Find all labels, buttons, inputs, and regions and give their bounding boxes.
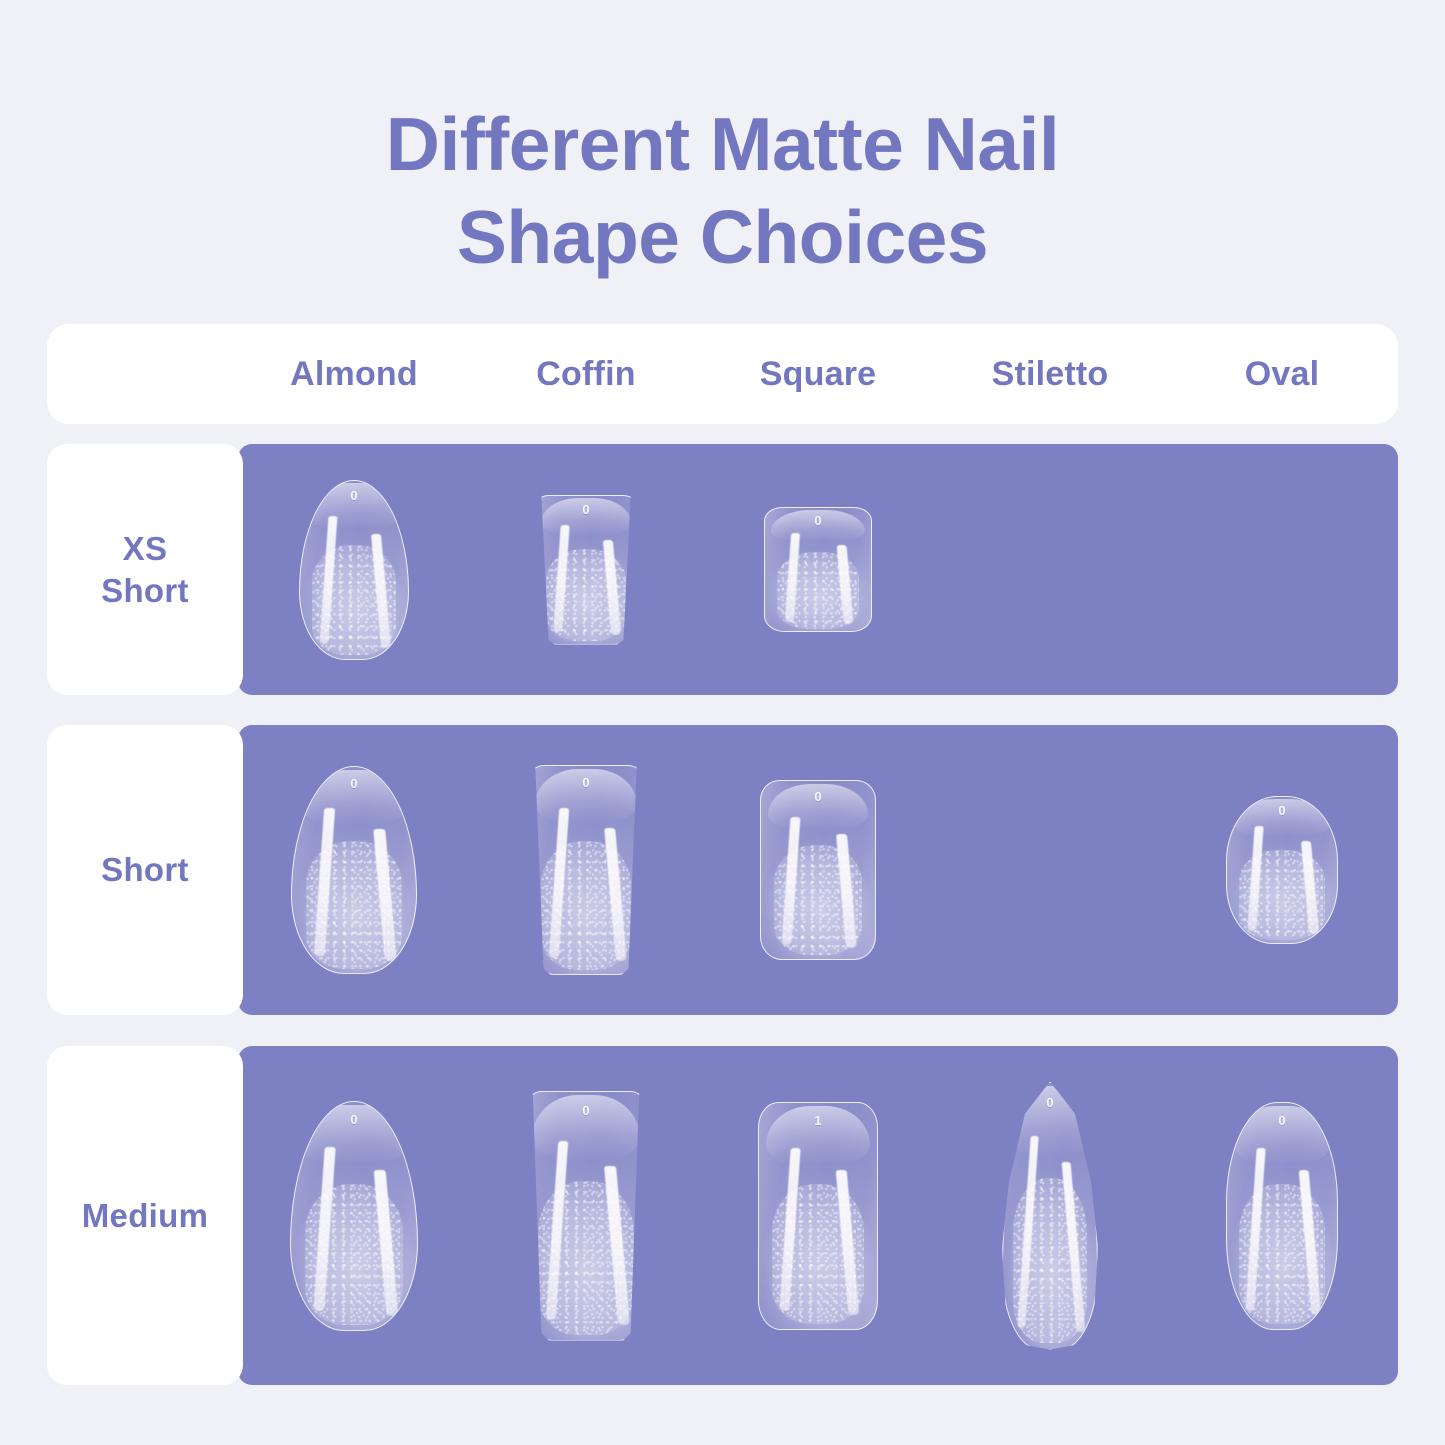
- column-header-square: Square: [702, 355, 934, 394]
- nail-size-mark: 0: [350, 777, 357, 790]
- row-label-line-2: Short: [101, 572, 189, 609]
- row-cells: 00100: [238, 1046, 1398, 1385]
- column-header-stiletto: Stiletto: [934, 355, 1166, 394]
- nail-size-mark: 0: [582, 1104, 589, 1117]
- row-label-line-1: Medium: [82, 1197, 208, 1234]
- nail-tip-square[interactable]: 1: [758, 1102, 878, 1330]
- nail-cell-square[interactable]: 0: [702, 444, 934, 695]
- size-row-medium: Medium00100: [47, 1046, 1398, 1385]
- nail-tip-almond[interactable]: 0: [299, 480, 409, 660]
- nail-cell-coffin[interactable]: 0: [470, 1046, 702, 1385]
- nail-size-mark: 1: [814, 1114, 821, 1127]
- column-header-oval: Oval: [1166, 355, 1398, 394]
- column-header-card: Almond Coffin Square Stiletto Oval: [47, 324, 1398, 424]
- nail-cell-square[interactable]: 0: [702, 725, 934, 1015]
- row-label-card: Medium: [47, 1046, 243, 1385]
- nail-cell-coffin[interactable]: 0: [470, 725, 702, 1015]
- page-title-line-1: Different Matte Nail: [0, 98, 1445, 191]
- nail-size-mark: 0: [582, 776, 589, 789]
- nail-cell-square[interactable]: 1: [702, 1046, 934, 1385]
- nail-tip-coffin[interactable]: 0: [534, 495, 638, 645]
- row-label-card: Short: [47, 725, 243, 1015]
- nail-size-mark: 0: [814, 514, 821, 527]
- size-row-short: Short0000: [47, 725, 1398, 1015]
- nail-cell-oval[interactable]: 0: [1166, 1046, 1398, 1385]
- row-label-line-1: Short: [101, 851, 189, 888]
- row-label-text: Medium: [82, 1195, 208, 1237]
- nail-size-mark: 0: [814, 790, 821, 803]
- nail-cell-oval[interactable]: 0: [1166, 725, 1398, 1015]
- nail-size-mark: 0: [1278, 804, 1285, 817]
- page-title-line-2: Shape Choices: [0, 191, 1445, 284]
- size-row-xs-short: XSShort000: [47, 444, 1398, 695]
- nail-cell-almond[interactable]: 0: [238, 444, 470, 695]
- nail-tip-square[interactable]: 0: [760, 780, 876, 960]
- row-cells: 0000: [238, 725, 1398, 1015]
- row-label-text: Short: [101, 849, 189, 891]
- row-cells: 000: [238, 444, 1398, 695]
- row-label-card: XSShort: [47, 444, 243, 695]
- page-title: Different Matte Nail Shape Choices: [0, 98, 1445, 284]
- nail-cell-almond[interactable]: 0: [238, 725, 470, 1015]
- nail-tip-coffin[interactable]: 0: [524, 1091, 648, 1341]
- nail-tip-square[interactable]: 0: [764, 507, 872, 632]
- column-header-coffin: Coffin: [470, 355, 702, 394]
- nail-size-mark: 0: [350, 1113, 357, 1126]
- nail-tip-oval[interactable]: 0: [1226, 796, 1338, 944]
- row-label-text: XSShort: [101, 528, 189, 612]
- nail-cell-almond[interactable]: 0: [238, 1046, 470, 1385]
- nail-cell-stiletto[interactable]: 0: [934, 1046, 1166, 1385]
- nail-size-mark: 0: [582, 503, 589, 516]
- nail-size-mark: 0: [1046, 1096, 1053, 1109]
- nail-tip-oval[interactable]: 0: [1226, 1102, 1338, 1330]
- row-label-line-1: XS: [123, 530, 168, 567]
- nail-tip-coffin[interactable]: 0: [527, 765, 645, 975]
- nail-size-mark: 0: [350, 489, 357, 502]
- column-header-row: Almond Coffin Square Stiletto Oval: [238, 324, 1398, 424]
- nail-tip-almond[interactable]: 0: [290, 1101, 418, 1331]
- nail-tip-stiletto[interactable]: 0: [1002, 1082, 1098, 1350]
- infographic-page: Different Matte Nail Shape Choices Almon…: [0, 0, 1445, 1445]
- column-header-almond: Almond: [238, 355, 470, 394]
- nail-cell-coffin[interactable]: 0: [470, 444, 702, 695]
- nail-size-mark: 0: [1278, 1114, 1285, 1127]
- nail-tip-almond[interactable]: 0: [291, 766, 417, 974]
